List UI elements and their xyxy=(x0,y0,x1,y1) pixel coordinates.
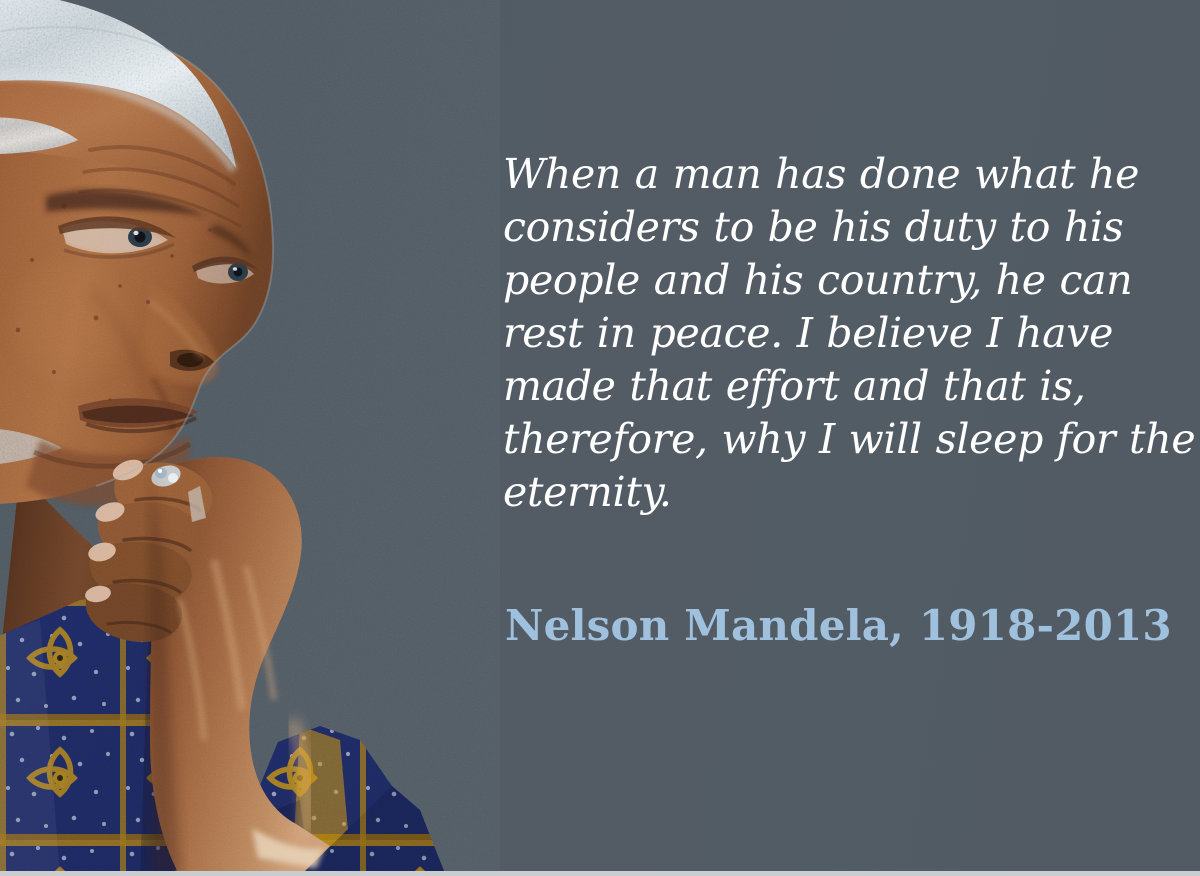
quote-line-5: made that effort and that is, xyxy=(503,360,1193,413)
quote-line-7: eternity. xyxy=(503,466,1193,519)
quote-line-2: considers to be his duty to his xyxy=(503,201,1193,254)
quote-line-6: therefore, why I will sleep for the xyxy=(503,413,1193,466)
quote-line-4: rest in peace. I believe I have xyxy=(503,307,1193,360)
portrait-photo xyxy=(0,0,500,876)
quote-line-3: people and his country, he can xyxy=(503,254,1193,307)
quote-poster: When a man has done what he considers to… xyxy=(0,0,1200,876)
quote-text: When a man has done what he considers to… xyxy=(503,148,1193,519)
poster-bottom-edge xyxy=(0,871,1200,876)
quote-attribution: Nelson Mandela, 1918-2013 xyxy=(505,601,1172,651)
portrait-illustration xyxy=(0,0,500,876)
quote-line-1: When a man has done what he xyxy=(503,148,1193,201)
